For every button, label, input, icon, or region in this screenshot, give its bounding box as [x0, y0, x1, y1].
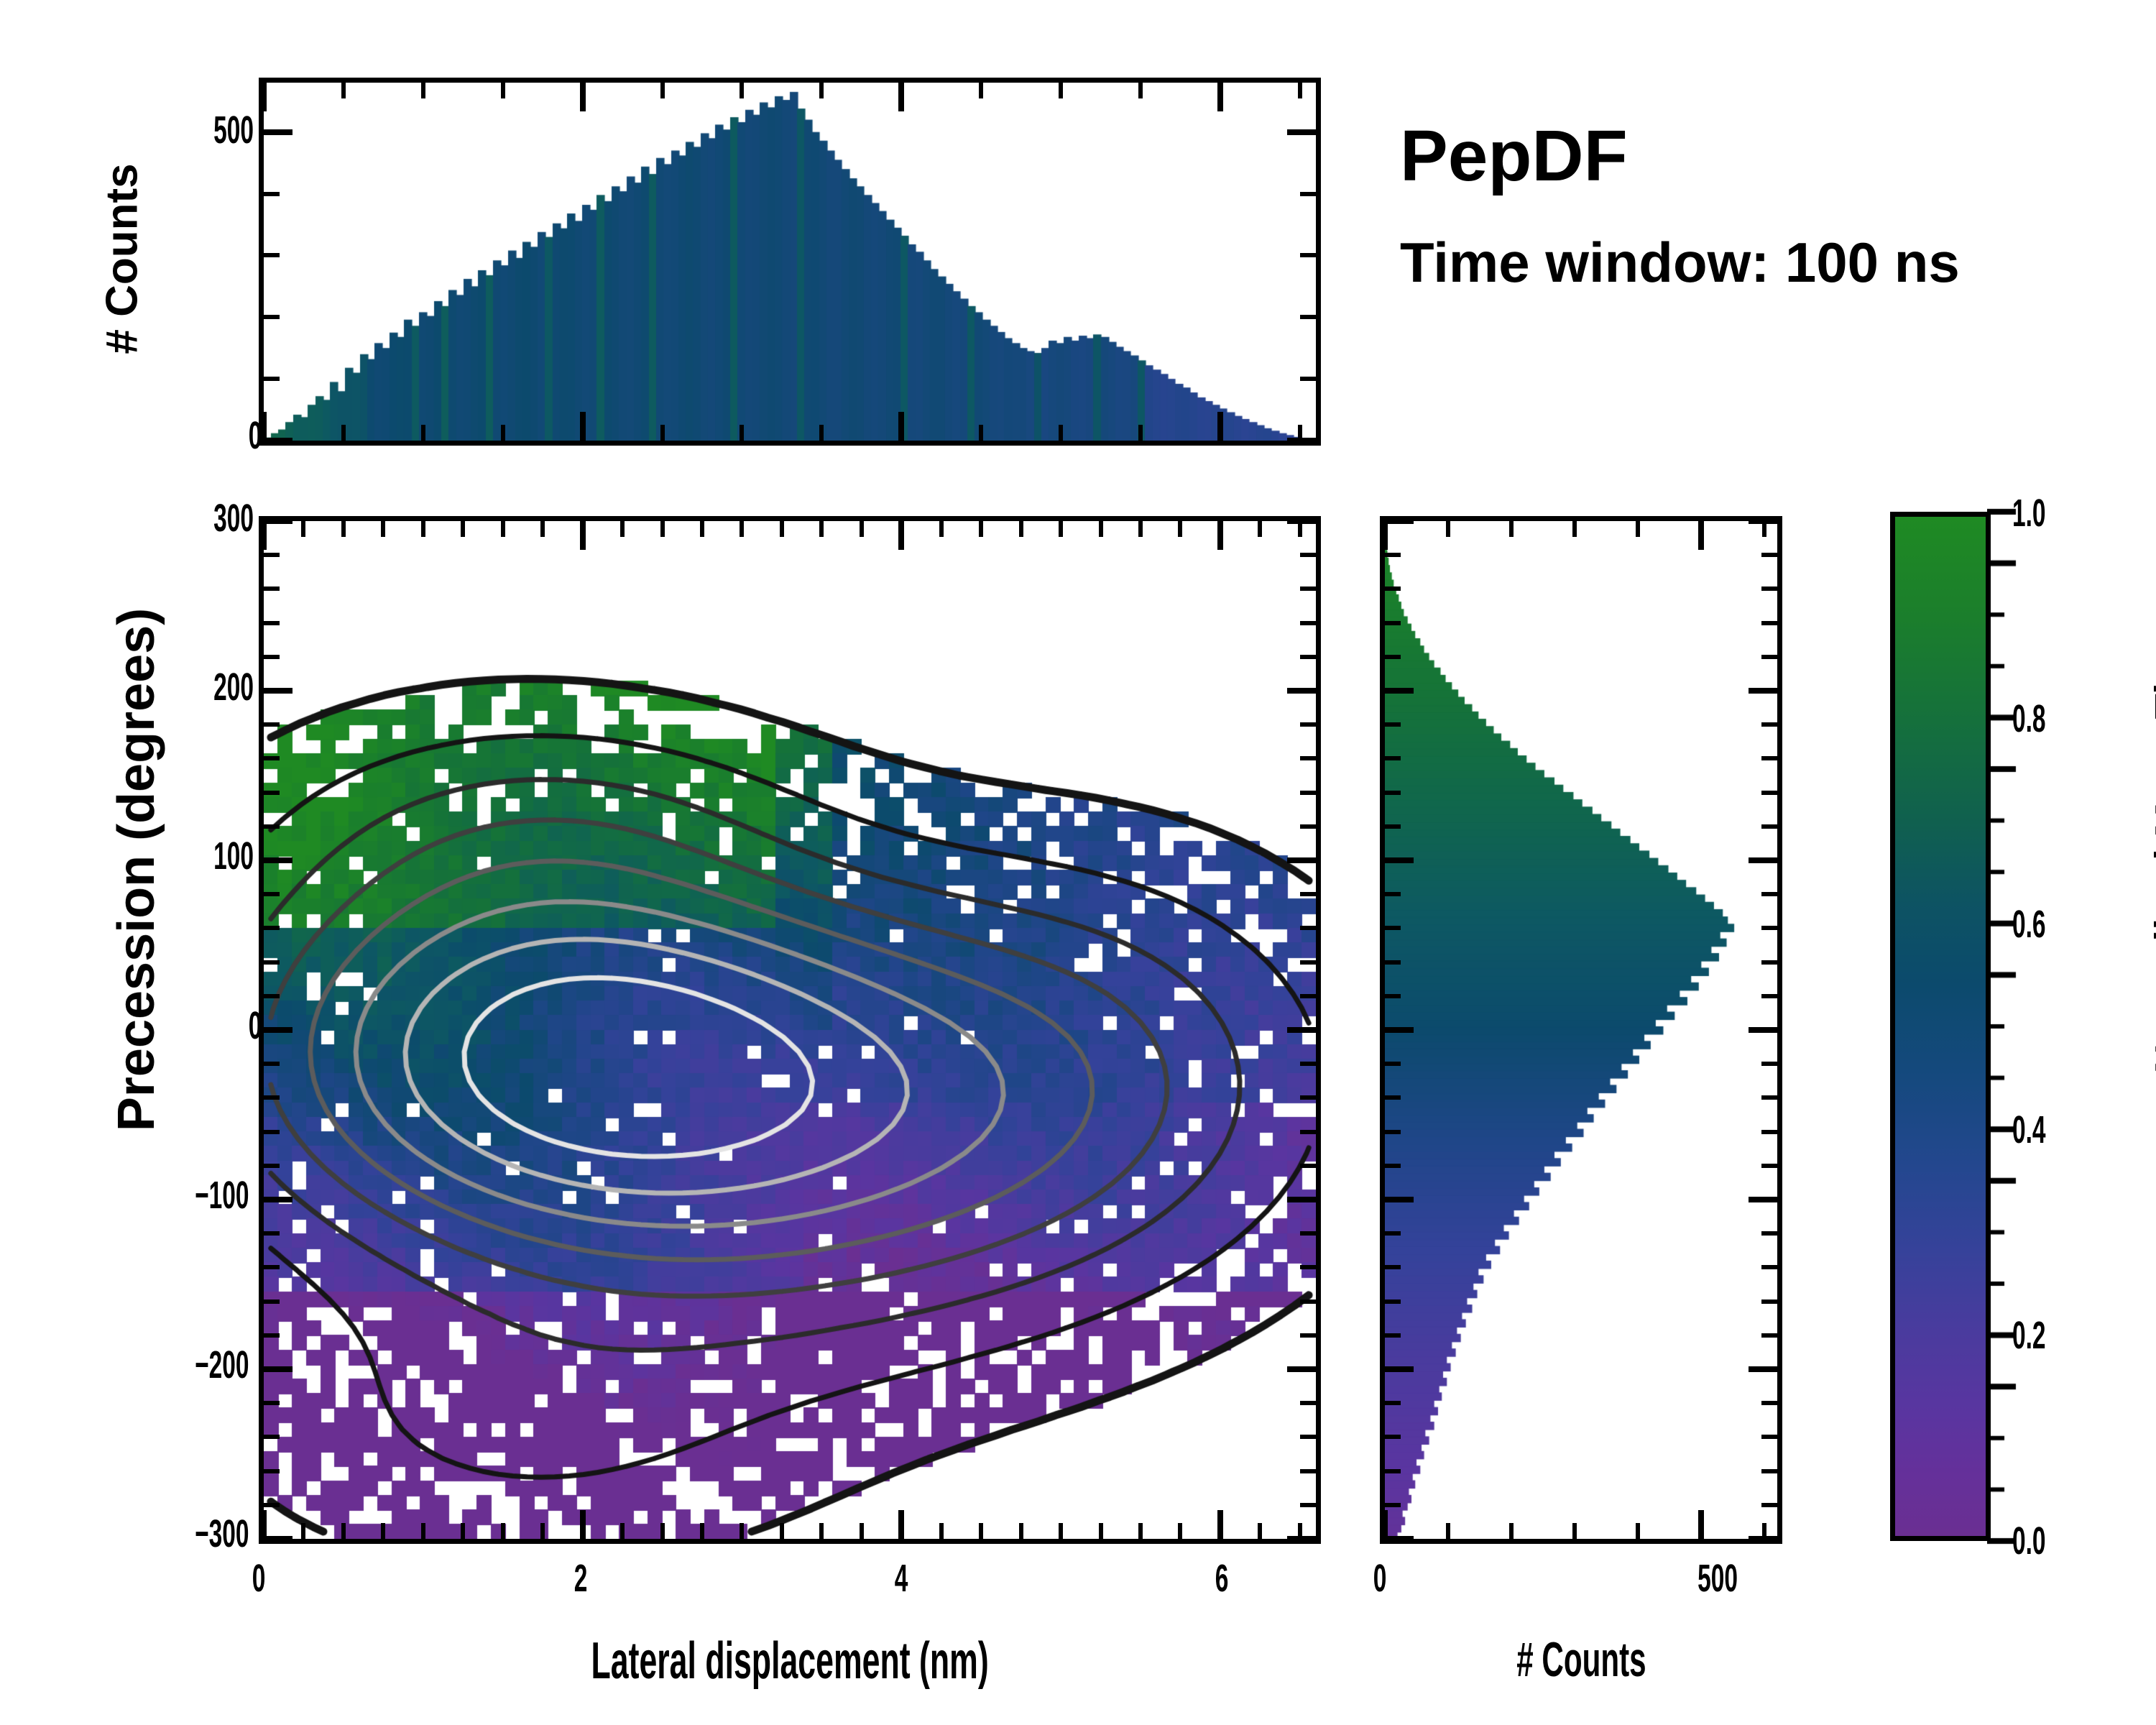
tick-mark	[1287, 1197, 1316, 1202]
tick-mark	[264, 129, 292, 135]
tick-mark	[264, 892, 280, 896]
main-ytick-neg300: −300	[101, 1512, 266, 1556]
main-xtick-4: 4	[858, 1556, 944, 1601]
page-title: PepDF	[1400, 115, 1628, 198]
tick-mark	[1385, 926, 1401, 930]
tick-mark	[819, 83, 824, 98]
colorbar-label: Normalized Mean Time	[1883, 791, 2156, 906]
tick-mark	[1385, 586, 1401, 591]
tick-mark	[1300, 1503, 1316, 1507]
tick-mark	[264, 1299, 280, 1304]
tick-mark	[660, 521, 665, 537]
tick-mark	[264, 192, 280, 196]
tick-mark	[1509, 521, 1514, 537]
colorbar	[1890, 512, 1991, 1541]
tick-mark	[1385, 1062, 1401, 1066]
tick-mark	[1138, 425, 1143, 441]
tick-mark	[264, 926, 280, 930]
tick-mark	[1300, 377, 1316, 381]
tick-mark	[501, 425, 505, 441]
tick-mark	[898, 83, 904, 111]
tick-mark	[1761, 791, 1777, 795]
tick-mark	[1287, 1366, 1316, 1372]
tick-mark	[1300, 1333, 1316, 1338]
tick-mark	[1059, 425, 1063, 441]
tick-mark	[1385, 1197, 1414, 1202]
main-xtick-0: 0	[216, 1556, 302, 1601]
tick-mark	[1300, 1130, 1316, 1134]
tick-mark	[341, 521, 346, 537]
tick-mark	[421, 425, 425, 441]
tick-mark	[1300, 756, 1316, 760]
tick-mark	[1300, 586, 1316, 591]
tick-mark	[1298, 521, 1302, 537]
colorbar-tick-1p0: 1.0	[2012, 491, 2156, 535]
tick-mark	[1138, 1523, 1143, 1539]
tick-mark	[1761, 1469, 1777, 1473]
tick-mark	[1300, 824, 1316, 829]
tick-mark	[620, 1523, 625, 1539]
tick-mark	[1446, 1523, 1450, 1539]
page-subtitle: Time window: 100 ns	[1400, 230, 1960, 295]
tick-mark	[1385, 518, 1414, 524]
tick-mark	[264, 438, 292, 443]
tick-mark	[1385, 791, 1401, 795]
tick-mark	[860, 521, 864, 537]
tick-mark	[1385, 1536, 1414, 1542]
tick-mark	[1300, 1062, 1316, 1066]
main-ylabel: Precession (degrees)	[0, 812, 424, 927]
tick-mark	[264, 586, 280, 591]
tick-mark	[261, 521, 267, 550]
tick-mark	[780, 521, 784, 537]
tick-mark	[580, 1510, 586, 1539]
tick-mark	[819, 425, 824, 441]
tick-mark	[1217, 1510, 1223, 1539]
tick-mark	[1385, 857, 1414, 863]
tick-mark	[1761, 1095, 1777, 1100]
tick-mark	[898, 1510, 904, 1539]
colorbar-tick-0p4: 0.4	[2012, 1108, 2156, 1152]
tick-mark	[1385, 1333, 1401, 1338]
tick-mark	[1385, 1027, 1414, 1033]
tick-mark	[1382, 1510, 1388, 1539]
colorbar-tick-0p2: 0.2	[2012, 1313, 2156, 1358]
tick-mark	[264, 791, 280, 795]
tick-mark	[381, 1523, 385, 1539]
main-ytick-neg100: −100	[101, 1173, 266, 1218]
tick-mark	[1300, 791, 1316, 795]
tick-mark	[1749, 518, 1777, 524]
tick-mark	[264, 621, 280, 625]
tick-mark	[264, 553, 280, 557]
tick-mark	[1385, 1265, 1401, 1269]
main-xlabel: Lateral displacement (nm)	[259, 1632, 1321, 1690]
tick-mark	[1298, 425, 1302, 441]
tick-mark	[1300, 253, 1316, 257]
tick-mark	[1300, 1265, 1316, 1269]
colorbar-tick-0p8: 0.8	[2012, 696, 2156, 741]
tick-mark	[1059, 521, 1063, 537]
tick-mark	[1761, 1231, 1777, 1236]
tick-mark	[1385, 553, 1401, 557]
tick-mark	[1300, 722, 1316, 727]
tick-mark	[1761, 1130, 1777, 1134]
tick-mark	[1761, 621, 1777, 625]
tick-mark	[1217, 412, 1223, 441]
tick-mark	[1385, 892, 1401, 896]
tick-mark	[939, 1523, 944, 1539]
tick-mark	[1761, 892, 1777, 896]
colorbar-tick-0p0: 0.0	[2012, 1519, 2156, 1563]
tick-mark	[1572, 1523, 1577, 1539]
right-hist-xtick-0: 0	[1337, 1556, 1423, 1601]
tick-mark	[1749, 688, 1777, 694]
tick-mark	[1217, 83, 1223, 111]
tick-mark	[1636, 521, 1640, 537]
tick-mark	[1300, 1299, 1316, 1304]
tick-mark	[264, 1095, 280, 1100]
tick-mark	[1385, 1401, 1401, 1405]
tick-mark	[1385, 621, 1401, 625]
tick-mark	[540, 521, 545, 537]
tick-mark	[819, 1523, 824, 1539]
tick-mark	[1761, 960, 1777, 965]
tick-mark	[341, 425, 346, 441]
tick-mark	[979, 425, 983, 441]
tick-mark	[1698, 1510, 1704, 1539]
tick-mark	[1761, 553, 1777, 557]
tick-mark	[461, 521, 465, 537]
tick-mark	[264, 1265, 280, 1269]
right-hist-xtick-500: 500	[1660, 1556, 1775, 1601]
tick-mark	[1761, 722, 1777, 727]
tick-mark	[264, 1231, 280, 1236]
tick-mark	[1300, 621, 1316, 625]
tick-mark	[264, 518, 292, 524]
tick-mark	[1761, 824, 1777, 829]
tick-mark	[540, 1523, 545, 1539]
tick-mark	[264, 857, 292, 863]
tick-mark	[1761, 994, 1777, 998]
tick-mark	[1300, 960, 1316, 965]
tick-mark	[264, 1333, 280, 1338]
tick-mark	[1509, 1523, 1514, 1539]
tick-mark	[341, 1523, 346, 1539]
tick-mark	[261, 412, 267, 441]
tick-mark	[1300, 994, 1316, 998]
tick-mark	[264, 377, 280, 381]
tick-mark	[1300, 553, 1316, 557]
tick-mark	[381, 521, 385, 537]
tick-mark	[501, 83, 505, 98]
tick-mark	[264, 1062, 280, 1066]
tick-mark	[264, 1469, 280, 1473]
tick-mark	[1059, 1523, 1063, 1539]
tick-mark	[1761, 1401, 1777, 1405]
tick-mark	[1099, 1523, 1103, 1539]
tick-mark	[1761, 1062, 1777, 1066]
tick-mark	[341, 83, 346, 98]
tick-mark	[1385, 960, 1401, 965]
tick-mark	[421, 1523, 425, 1539]
tick-mark	[1138, 521, 1143, 537]
tick-mark	[1385, 1469, 1401, 1473]
tick-mark	[979, 521, 983, 537]
tick-mark	[264, 253, 280, 257]
tick-mark	[1761, 756, 1777, 760]
tick-mark	[1761, 1265, 1777, 1269]
tick-mark	[860, 1523, 864, 1539]
tick-mark	[1287, 688, 1316, 694]
tick-mark	[1761, 1333, 1777, 1338]
tick-mark	[740, 425, 744, 441]
tick-mark	[1300, 1435, 1316, 1439]
tick-mark	[1446, 521, 1450, 537]
tick-mark	[1300, 892, 1316, 896]
tick-mark	[1178, 1523, 1182, 1539]
tick-mark	[264, 960, 280, 965]
top-histogram-plot-area	[264, 83, 1316, 441]
tick-mark	[1385, 1164, 1401, 1168]
tick-mark	[1385, 756, 1401, 760]
right-histogram-plot-area	[1385, 521, 1777, 1539]
tick-mark	[1178, 521, 1182, 537]
tick-mark	[264, 1401, 280, 1405]
tick-mark	[819, 521, 824, 537]
tick-mark	[1636, 1523, 1640, 1539]
tick-mark	[264, 1164, 280, 1168]
main-xtick-6: 6	[1179, 1556, 1265, 1601]
tick-mark	[660, 1523, 665, 1539]
tick-mark	[979, 1523, 983, 1539]
tick-mark	[620, 521, 625, 537]
tick-mark	[1300, 1401, 1316, 1405]
tick-mark	[264, 824, 280, 829]
tick-mark	[421, 83, 425, 98]
tick-mark	[1385, 1095, 1401, 1100]
tick-mark	[461, 1523, 465, 1539]
tick-mark	[898, 412, 904, 441]
tick-mark	[301, 521, 305, 537]
tick-mark	[264, 1503, 280, 1507]
tick-mark	[1300, 315, 1316, 319]
tick-mark	[1019, 521, 1023, 537]
tick-mark	[1761, 926, 1777, 930]
tick-mark	[1287, 129, 1316, 135]
tick-mark	[1287, 1027, 1316, 1033]
tick-mark	[740, 83, 744, 98]
tick-mark	[1385, 655, 1401, 659]
tick-mark	[1298, 1523, 1302, 1539]
tick-mark	[580, 521, 586, 550]
tick-mark	[1385, 1503, 1401, 1507]
tick-mark	[264, 655, 280, 659]
tick-mark	[1300, 1231, 1316, 1236]
tick-mark	[1749, 1366, 1777, 1372]
tick-mark	[1287, 857, 1316, 863]
tick-mark	[261, 1510, 267, 1539]
tick-mark	[700, 521, 704, 537]
tick-mark	[264, 688, 292, 694]
tick-mark	[1300, 1469, 1316, 1473]
tick-mark	[1300, 655, 1316, 659]
tick-mark	[939, 521, 944, 537]
tick-mark	[1761, 1299, 1777, 1304]
tick-mark	[1300, 1164, 1316, 1168]
right-hist-xlabel: # Counts	[1380, 1632, 1782, 1688]
tick-mark	[1258, 1523, 1262, 1539]
tick-mark	[1298, 83, 1302, 98]
tick-mark	[1761, 1503, 1777, 1507]
tick-mark	[264, 315, 280, 319]
tick-mark	[1385, 824, 1401, 829]
main-heatmap-plot-area	[264, 521, 1316, 1539]
tick-mark	[780, 1523, 784, 1539]
tick-mark	[898, 521, 904, 550]
tick-mark	[1300, 926, 1316, 930]
tick-mark	[264, 1130, 280, 1134]
tick-mark	[261, 83, 267, 111]
tick-mark	[264, 1027, 292, 1033]
tick-mark	[1385, 688, 1414, 694]
tick-mark	[580, 412, 586, 441]
tick-mark	[1749, 857, 1777, 863]
tick-mark	[264, 756, 280, 760]
tick-mark	[1385, 1231, 1401, 1236]
main-xtick-2: 2	[538, 1556, 624, 1601]
tick-mark	[1300, 192, 1316, 196]
tick-mark	[1749, 1027, 1777, 1033]
main-ytick-neg200: −200	[101, 1343, 266, 1387]
tick-mark	[421, 521, 425, 537]
tick-mark	[1572, 521, 1577, 537]
tick-mark	[1059, 83, 1063, 98]
tick-mark	[740, 521, 744, 537]
tick-mark	[1761, 1435, 1777, 1439]
tick-mark	[264, 1366, 292, 1372]
tick-mark	[1385, 1130, 1401, 1134]
tick-mark	[301, 1523, 305, 1539]
tick-mark	[660, 83, 665, 98]
tick-mark	[501, 1523, 505, 1539]
tick-mark	[1217, 521, 1223, 550]
colorbar-tick-0p6: 0.6	[2012, 902, 2156, 947]
tick-mark	[1385, 1366, 1414, 1372]
tick-mark	[1385, 722, 1401, 727]
tick-mark	[264, 1435, 280, 1439]
tick-mark	[1099, 521, 1103, 537]
colorbar-ticks	[1987, 502, 2073, 1551]
tick-mark	[740, 1523, 744, 1539]
tick-mark	[1382, 521, 1388, 550]
tick-mark	[264, 722, 280, 727]
tick-mark	[1761, 1164, 1777, 1168]
tick-mark	[1138, 83, 1143, 98]
tick-mark	[660, 425, 665, 441]
tick-mark	[979, 83, 983, 98]
tick-mark	[1761, 586, 1777, 591]
top-hist-ylabel: # Counts	[0, 144, 273, 374]
tick-mark	[1300, 1095, 1316, 1100]
tick-mark	[1019, 1523, 1023, 1539]
tick-mark	[1385, 1435, 1401, 1439]
tick-mark	[1698, 521, 1704, 550]
main-ytick-300: 300	[129, 496, 266, 540]
tick-mark	[1385, 1299, 1401, 1304]
tick-mark	[264, 1197, 292, 1202]
tick-mark	[1749, 1197, 1777, 1202]
top-hist-ytick-0: 0	[172, 413, 266, 458]
tick-mark	[1258, 521, 1262, 537]
tick-mark	[264, 994, 280, 998]
tick-mark	[1761, 655, 1777, 659]
tick-mark	[700, 1523, 704, 1539]
tick-mark	[501, 521, 505, 537]
tick-mark	[580, 83, 586, 111]
tick-mark	[1385, 994, 1401, 998]
tick-mark	[1749, 1536, 1777, 1542]
tick-mark	[264, 1536, 292, 1542]
